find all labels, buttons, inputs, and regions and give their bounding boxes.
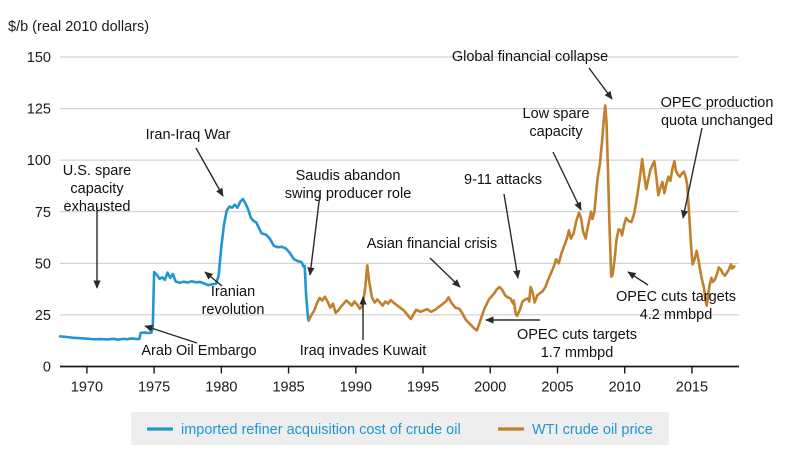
x-tick-label: 1975: [138, 380, 170, 396]
x-tick-label: 2010: [609, 380, 641, 396]
annotation-text: U.S. spare: [63, 163, 132, 179]
x-tick-label: 1990: [340, 380, 372, 396]
x-tick-label: 2005: [541, 380, 573, 396]
y-tick-label: 150: [27, 50, 51, 66]
annotation-text: Asian financial crisis: [367, 236, 498, 252]
chart-legend: imported refiner acquisition cost of cru…: [131, 412, 669, 445]
y-tick-label: 25: [35, 308, 51, 324]
y-tick-label: 125: [27, 102, 51, 118]
legend-item-imported-refiner[interactable]: imported refiner acquisition cost of cru…: [147, 422, 461, 438]
y-tick-label: 50: [35, 256, 51, 272]
x-tick-label: 2000: [474, 380, 506, 396]
annotation-text: OPEC cuts targets: [616, 289, 736, 305]
annotation-text: OPEC production: [661, 95, 774, 111]
oil-price-chart: $/b (real 2010 dollars) 0255075100125150…: [0, 0, 796, 456]
annotation-text: swing producer role: [285, 186, 412, 202]
legend-label: WTI crude oil price: [532, 422, 653, 438]
annotation-text: Iran-Iraq War: [146, 127, 231, 143]
annotation-text: Iranian: [211, 284, 255, 300]
x-tick-label: 1985: [272, 380, 304, 396]
x-tick-label: 2015: [676, 380, 708, 396]
annotation-text: Low spare: [523, 106, 590, 122]
annotation-text: Saudis abandon: [296, 168, 401, 184]
legend-label: imported refiner acquisition cost of cru…: [181, 422, 461, 438]
annotation-text: 9-11 attacks: [464, 172, 542, 188]
y-tick-label: 100: [27, 153, 51, 169]
y-axis-title: $/b (real 2010 dollars): [8, 19, 149, 35]
x-tick-label: 1980: [205, 380, 237, 396]
x-tick-label: 1995: [407, 380, 439, 396]
annotation-text: Global financial collapse: [452, 49, 608, 65]
annotation-text: 1.7 mmbpd: [541, 345, 614, 361]
annotation-text: capacity: [70, 181, 124, 197]
y-tick-label: 75: [35, 205, 51, 221]
annotation-text: Iraq invades Kuwait: [300, 343, 427, 359]
annotation-text: revolution: [202, 302, 265, 318]
x-tick-label: 1970: [71, 380, 103, 396]
y-tick-label: 0: [43, 360, 51, 376]
annotation-text: OPEC cuts targets: [517, 327, 637, 343]
annotation-text: Arab Oil Embargo: [141, 343, 256, 359]
annotation-text: 4.2 mmbpd: [640, 307, 713, 323]
annotation-text: quota unchanged: [661, 113, 773, 129]
annotation-text: capacity: [529, 124, 583, 140]
